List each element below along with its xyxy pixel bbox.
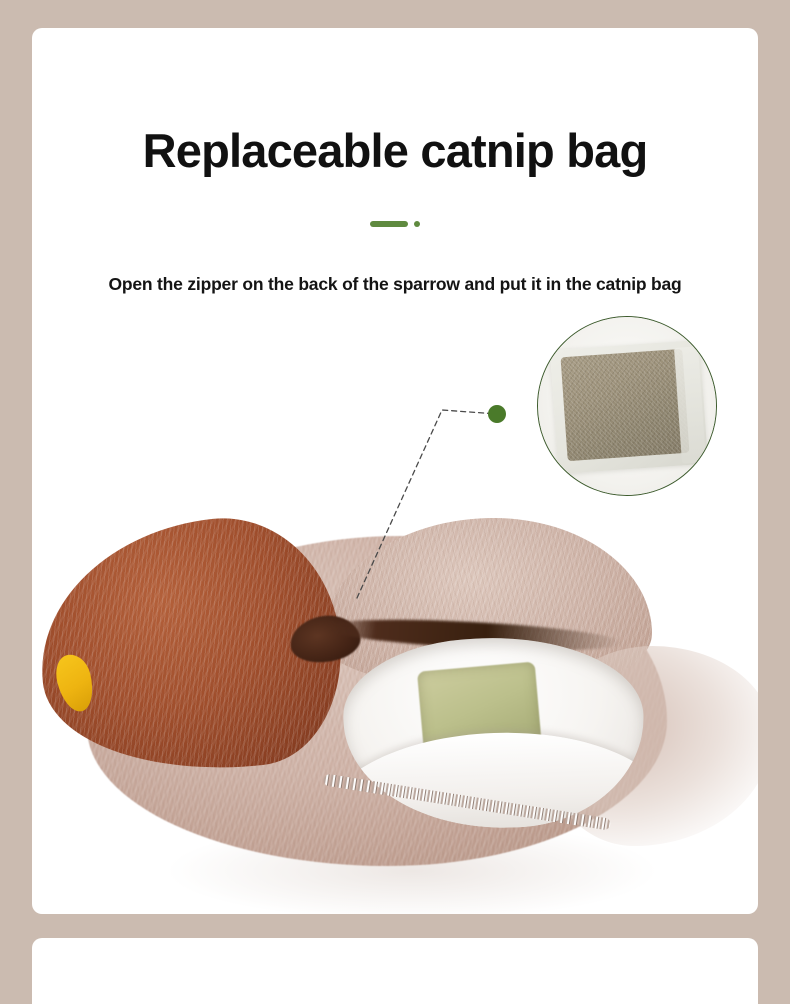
decorative-divider [32,221,758,227]
product-photo-stage [32,306,758,914]
inset-photo [538,317,716,495]
next-card-body [32,938,758,1004]
plush-sparrow-photo [32,496,758,914]
divider-bar [370,221,408,227]
content-card-catnip-bag: Replaceable catnip bag Open the zipper o… [32,28,758,914]
callout-endpoint-dot [488,405,506,423]
content-card-next [32,938,758,1004]
sachet-herb-fill [561,349,690,461]
product-detail-page: Replaceable catnip bag Open the zipper o… [0,0,790,1004]
catnip-sachet-inset [537,316,717,496]
section-subtitle: Open the zipper on the back of the sparr… [32,274,758,295]
divider-dot [414,221,420,227]
page-title: Replaceable catnip bag [32,125,758,177]
